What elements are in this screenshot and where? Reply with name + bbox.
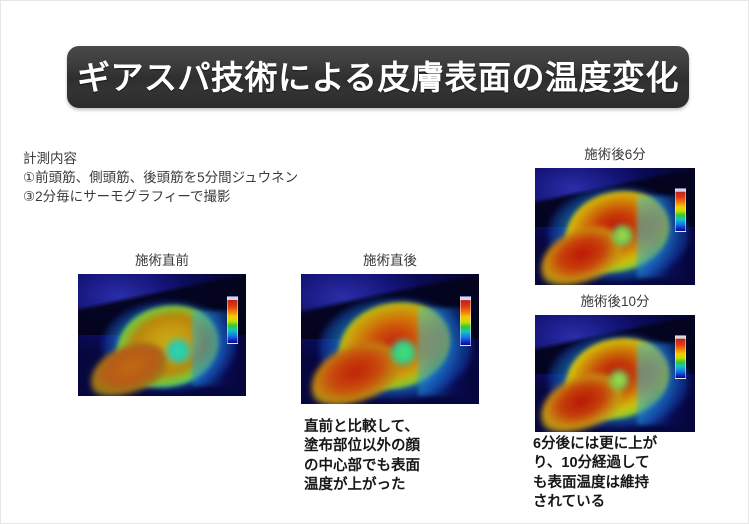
thermal-image-after-6min (535, 168, 695, 285)
comment-right-line-1: 6分後には更に上が (533, 435, 657, 454)
comment-right-line-2: り、10分経過して (533, 454, 657, 473)
panel-before: 施術直前 (78, 253, 246, 396)
slide-canvas: ギアスパ技術による皮膚表面の温度変化 計測内容 ①前頭筋、側頭筋、後頭筋を5分間… (0, 0, 749, 524)
notes-line-1: ①前頭筋、側頭筋、後頭筋を5分間ジュウネン (23, 168, 363, 187)
caption-immediately-after: 施術直後 (301, 253, 479, 269)
comment-middle-line-3: の中心部でも表面 (304, 457, 420, 476)
measurement-notes: 計測内容 ①前頭筋、側頭筋、後頭筋を5分間ジュウネン ③2分毎にサーモグラフィー… (23, 149, 363, 206)
notes-line-2: ③2分毎にサーモグラフィーで撮影 (23, 187, 363, 206)
panel-after-6min: 施術後6分 (535, 147, 695, 285)
slide-title-banner: ギアスパ技術による皮膚表面の温度変化 (67, 46, 689, 108)
caption-before: 施術直前 (78, 253, 246, 269)
comment-immediately-after: 直前と比較して、 塗布部位以外の顔 の中心部でも表面 温度が上がった (304, 418, 420, 495)
comment-middle-line-4: 温度が上がった (304, 476, 420, 495)
comment-middle-line-2: 塗布部位以外の顔 (304, 437, 420, 456)
page-title: ギアスパ技術による皮膚表面の温度変化 (77, 61, 679, 94)
thermal-scale-bar (460, 296, 471, 346)
thermal-image-after-10min (535, 315, 695, 432)
thermal-scale-bar (227, 296, 238, 344)
comment-after-6-and-10min: 6分後には更に上が り、10分経過して も表面温度は維持 されている (533, 435, 657, 512)
panel-immediately-after: 施術直後 (301, 253, 479, 404)
comment-middle-line-1: 直前と比較して、 (304, 418, 420, 437)
cool-cheek-region (612, 224, 633, 246)
thermal-scale-bar (675, 188, 686, 232)
panel-after-10min: 施術後10分 (535, 294, 695, 432)
thermal-image-immediately-after (301, 274, 479, 404)
comment-right-line-4: されている (533, 493, 657, 512)
comment-right-line-3: も表面温度は維持 (533, 474, 657, 493)
notes-heading: 計測内容 (23, 149, 363, 168)
caption-after-6min: 施術後6分 (535, 147, 695, 163)
cool-cheek-region (390, 339, 417, 366)
thermal-image-before (78, 274, 246, 396)
caption-after-10min: 施術後10分 (535, 294, 695, 310)
thermal-scale-bar (675, 335, 686, 379)
